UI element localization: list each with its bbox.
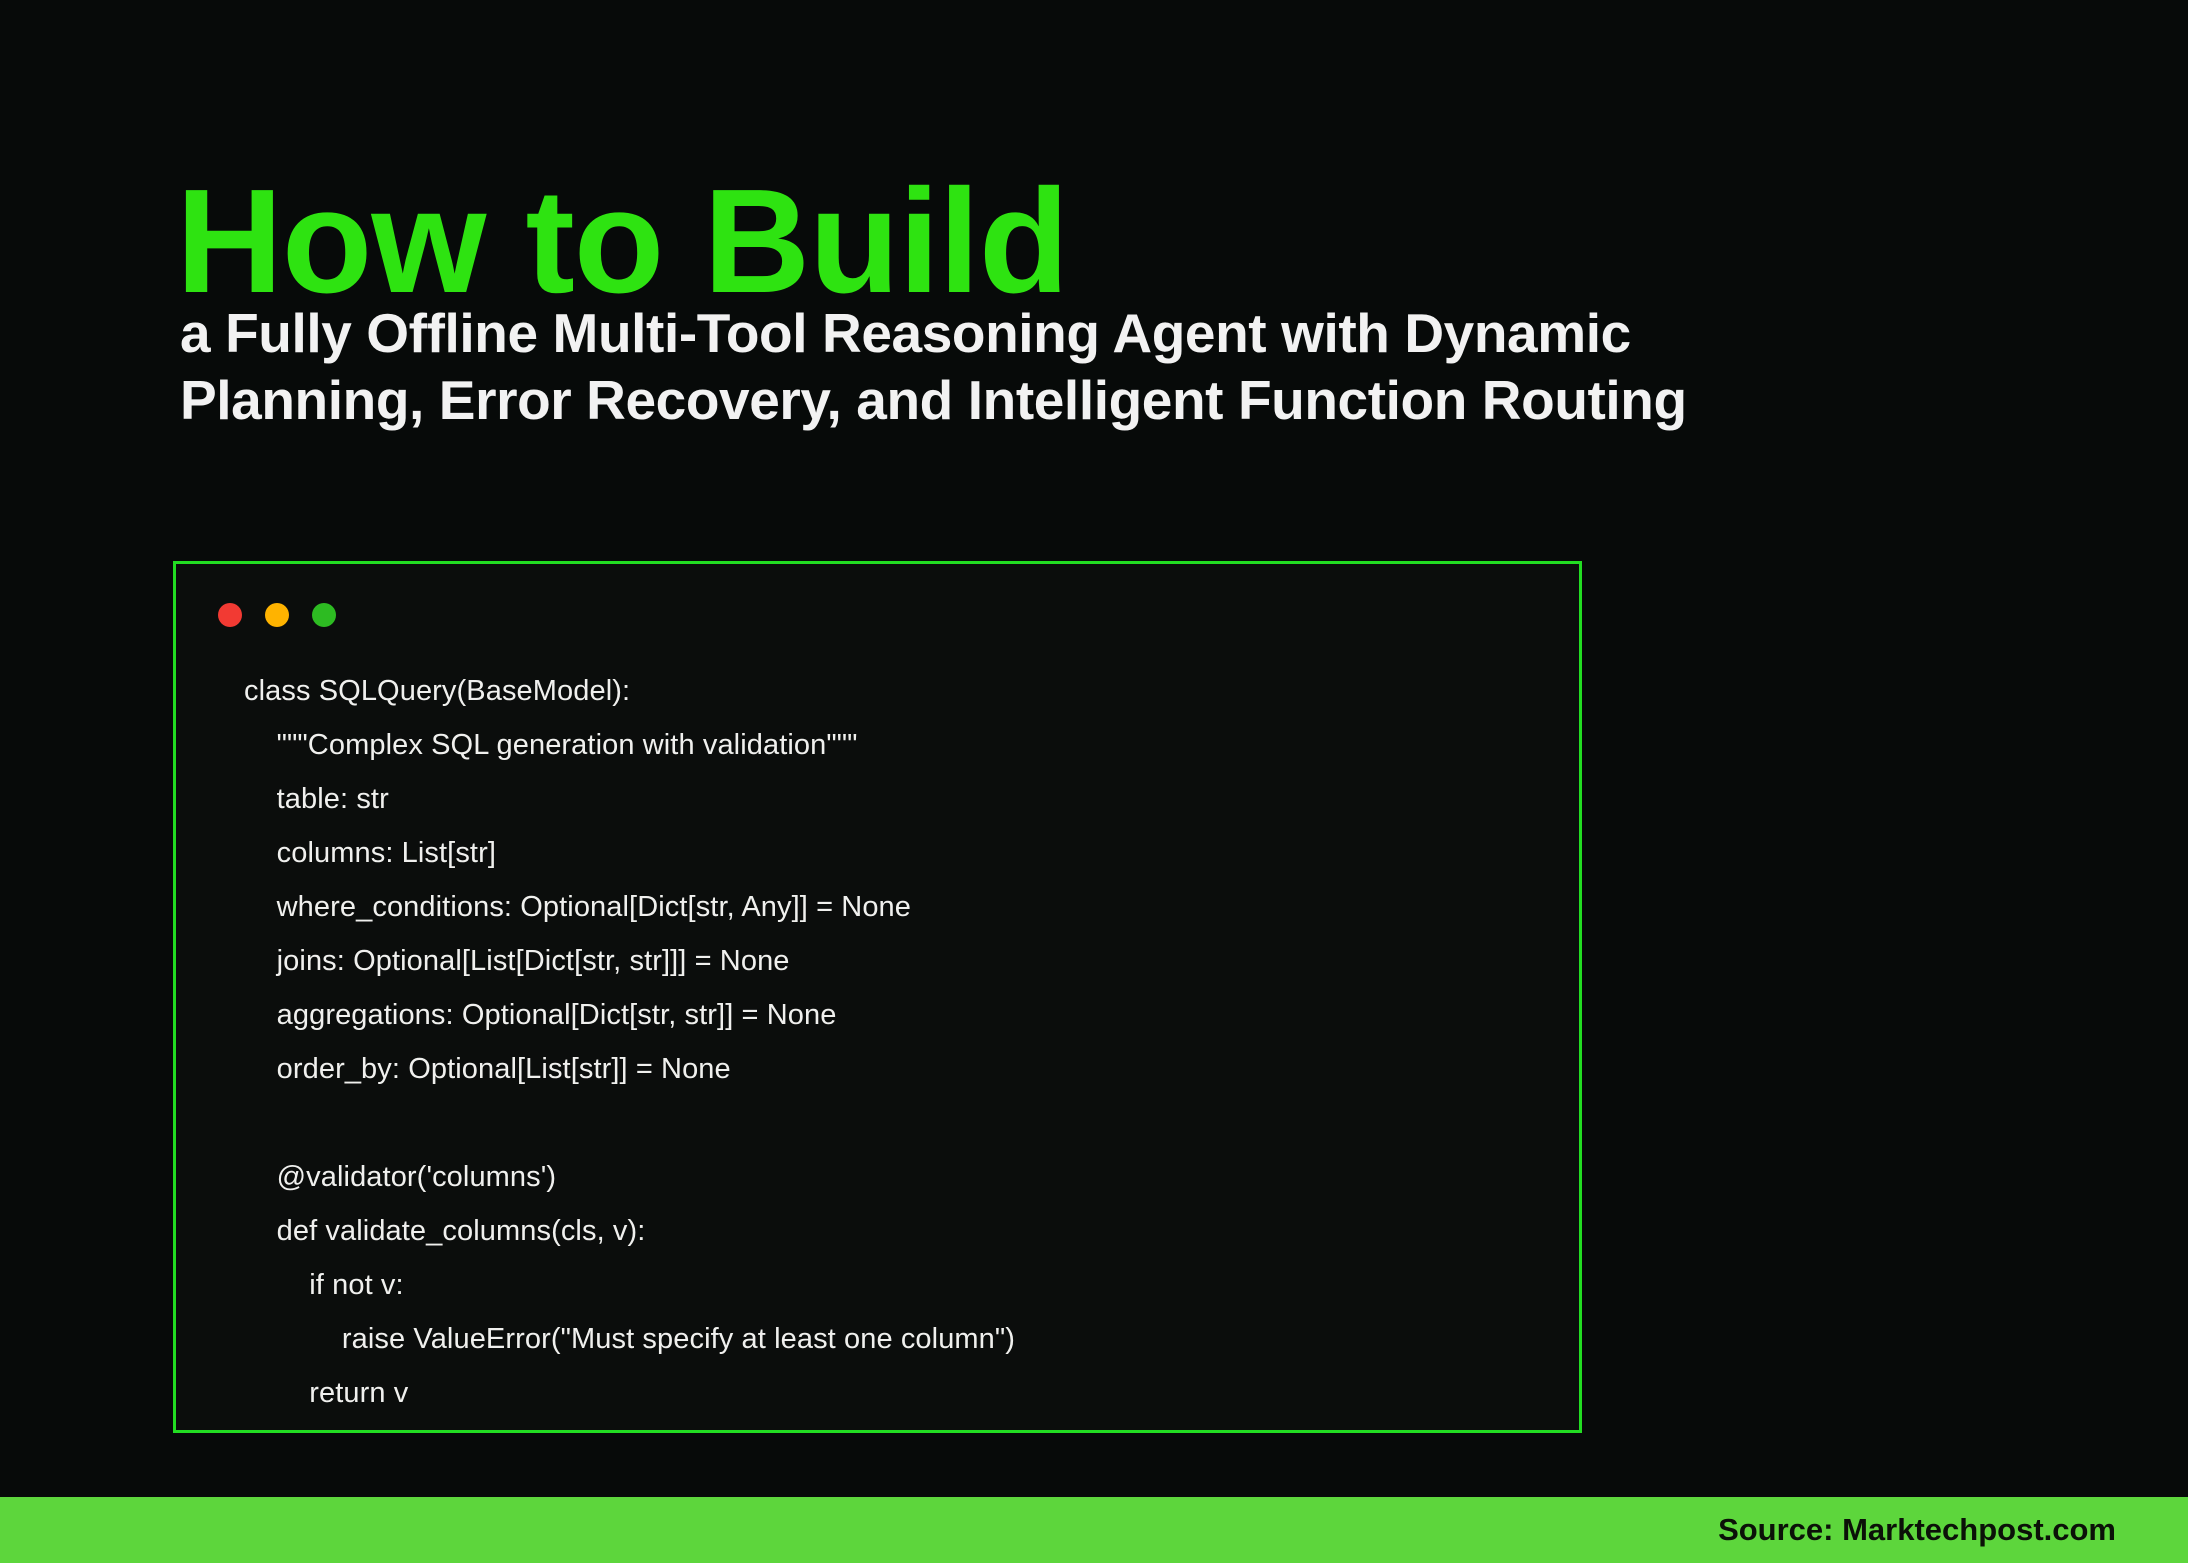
minimize-dot-icon[interactable] [265,603,289,627]
subtitle-line-1: a Fully Offline Multi-Tool Reasoning Age… [180,300,2020,367]
maximize-dot-icon[interactable] [312,603,336,627]
slide-root: How to Build a Fully Offline Multi-Tool … [0,0,2188,1563]
code-line: return v [244,1366,1559,1420]
code-window: class SQLQuery(BaseModel): """Complex SQ… [173,561,1582,1433]
code-line [244,1096,1559,1150]
code-line: table: str [244,772,1559,826]
code-line: def validate_columns(cls, v): [244,1204,1559,1258]
code-line: if not v: [244,1258,1559,1312]
code-line: aggregations: Optional[Dict[str, str]] =… [244,988,1559,1042]
window-controls [218,603,336,627]
code-line: columns: List[str] [244,826,1559,880]
page-subtitle: a Fully Offline Multi-Tool Reasoning Age… [180,300,2020,434]
footer-bar: Source: Marktechpost.com [0,1497,2188,1563]
subtitle-line-2: Planning, Error Recovery, and Intelligen… [180,367,2020,434]
code-line: class SQLQuery(BaseModel): [244,664,1559,718]
code-line: joins: Optional[List[Dict[str, str]]] = … [244,934,1559,988]
code-line: @validator('columns') [244,1150,1559,1204]
code-line: order_by: Optional[List[str]] = None [244,1042,1559,1096]
code-block: class SQLQuery(BaseModel): """Complex SQ… [244,664,1559,1420]
source-attribution: Source: Marktechpost.com [1718,1512,2116,1548]
code-line: """Complex SQL generation with validatio… [244,718,1559,772]
code-line: raise ValueError("Must specify at least … [244,1312,1559,1366]
code-line: where_conditions: Optional[Dict[str, Any… [244,880,1559,934]
close-dot-icon[interactable] [218,603,242,627]
